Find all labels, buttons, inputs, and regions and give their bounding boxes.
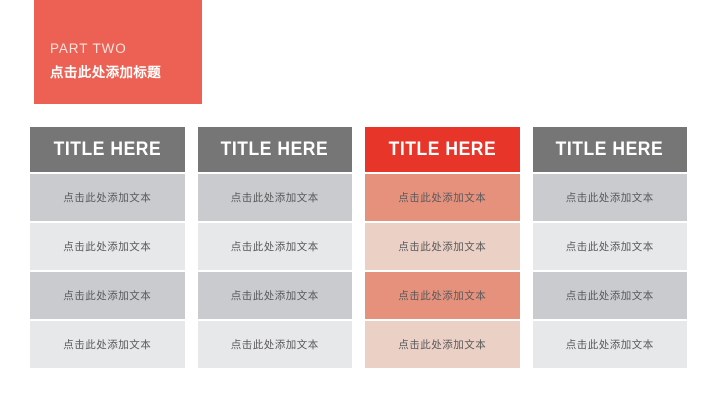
column-cell[interactable]: 点击此处添加文本 — [365, 272, 520, 319]
section-part-label: PART TWO — [50, 42, 127, 56]
column-cell[interactable]: 点击此处添加文本 — [30, 223, 185, 270]
column-header-4[interactable]: TITLE HERE — [533, 127, 688, 172]
column-header-label: TITLE HERE — [389, 127, 496, 172]
column-cell[interactable]: 点击此处添加文本 — [198, 223, 353, 270]
column-header-label: TITLE HERE — [221, 127, 328, 172]
column-cell[interactable]: 点击此处添加文本 — [365, 223, 520, 270]
column-cell[interactable]: 点击此处添加文本 — [198, 272, 353, 319]
column-header-2[interactable]: TITLE HERE — [198, 127, 353, 172]
column-header-label: TITLE HERE — [556, 127, 663, 172]
column-2: TITLE HERE点击此处添加文本点击此处添加文本点击此处添加文本点击此处添加… — [198, 127, 353, 368]
column-4: TITLE HERE点击此处添加文本点击此处添加文本点击此处添加文本点击此处添加… — [533, 127, 688, 368]
column-1: TITLE HERE点击此处添加文本点击此处添加文本点击此处添加文本点击此处添加… — [30, 127, 185, 368]
column-header-3[interactable]: TITLE HERE — [365, 127, 520, 172]
column-cell[interactable]: 点击此处添加文本 — [533, 223, 688, 270]
column-cell[interactable]: 点击此处添加文本 — [30, 321, 185, 368]
section-subtitle: 点击此处添加标题 — [50, 66, 161, 80]
comparison-columns: TITLE HERE点击此处添加文本点击此处添加文本点击此处添加文本点击此处添加… — [30, 127, 687, 368]
column-cell[interactable]: 点击此处添加文本 — [533, 321, 688, 368]
column-cell[interactable]: 点击此处添加文本 — [198, 174, 353, 221]
column-cell[interactable]: 点击此处添加文本 — [365, 321, 520, 368]
column-cell[interactable]: 点击此处添加文本 — [533, 272, 688, 319]
column-header-1[interactable]: TITLE HERE — [30, 127, 185, 172]
column-cell[interactable]: 点击此处添加文本 — [198, 321, 353, 368]
column-3: TITLE HERE点击此处添加文本点击此处添加文本点击此处添加文本点击此处添加… — [365, 127, 520, 368]
column-cell[interactable]: 点击此处添加文本 — [30, 174, 185, 221]
section-title-block: PART TWO 点击此处添加标题 — [34, 0, 202, 104]
column-cell[interactable]: 点击此处添加文本 — [365, 174, 520, 221]
column-header-label: TITLE HERE — [54, 127, 161, 172]
column-cell[interactable]: 点击此处添加文本 — [533, 174, 688, 221]
column-cell[interactable]: 点击此处添加文本 — [30, 272, 185, 319]
